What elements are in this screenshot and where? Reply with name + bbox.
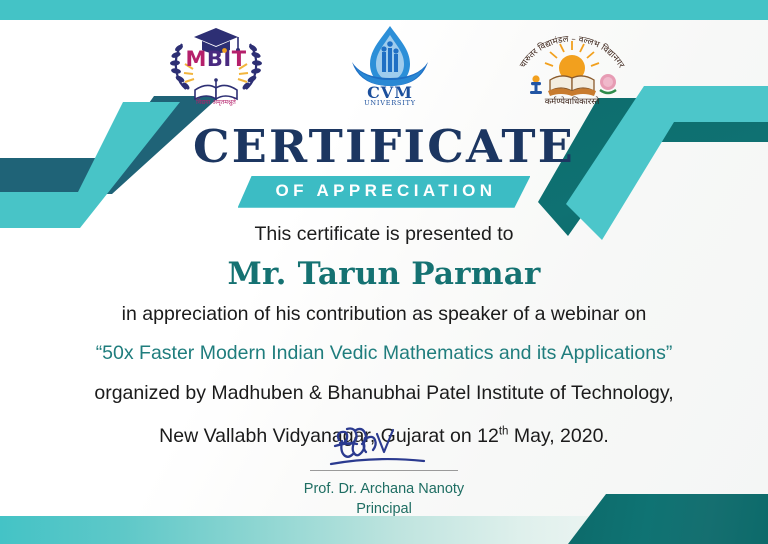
- handwritten-signature-icon: [309, 424, 459, 468]
- mbit-script-text: विद्यया अमृतमश्नुते: [196, 98, 236, 106]
- certificate-subtitle-wrap: OF APPRECIATION: [0, 176, 768, 208]
- certificate-title-block: CERTIFICATE: [0, 124, 768, 169]
- charutar-vidya-mandal-logo: चारुतर विद्यामंडल – वल्लभ विद्यानगर: [512, 24, 632, 106]
- presented-line: This certificate is presented to: [0, 222, 768, 247]
- page-title: CERTIFICATE: [0, 124, 768, 169]
- appreciation-line: in appreciation of his contribution as s…: [0, 302, 768, 327]
- organizer-line: organized by Madhuben & Bhanubhai Patel …: [0, 381, 768, 406]
- certificate-body: This certificate is presented to Mr. Tar…: [0, 222, 768, 449]
- webinar-title: “50x Faster Modern Indian Vedic Mathemat…: [0, 341, 768, 366]
- signature-mark: [0, 424, 768, 468]
- mbit-logo: MBIT विद्यया अमृतमश्नुते: [160, 24, 272, 106]
- signature-rule: [310, 470, 458, 471]
- cvm-university-logo: CVM UNIVERSITY: [342, 24, 438, 106]
- cvm-subtext: UNIVERSITY: [364, 99, 416, 106]
- svg-text:MBIT: MBIT: [185, 47, 246, 71]
- cvm-trust-motto: कर्मण्येवाधिकारस्ते: [545, 96, 600, 106]
- top-teal-band: [0, 0, 768, 20]
- certificate-canvas: MBIT विद्यया अमृतमश्नुते: [0, 0, 768, 544]
- logo-row: MBIT विद्यया अमृतमश्नुते: [0, 24, 768, 106]
- certificate-subtitle-banner: OF APPRECIATION: [238, 176, 531, 208]
- recipient-name: Mr. Tarun Parmar: [0, 256, 768, 293]
